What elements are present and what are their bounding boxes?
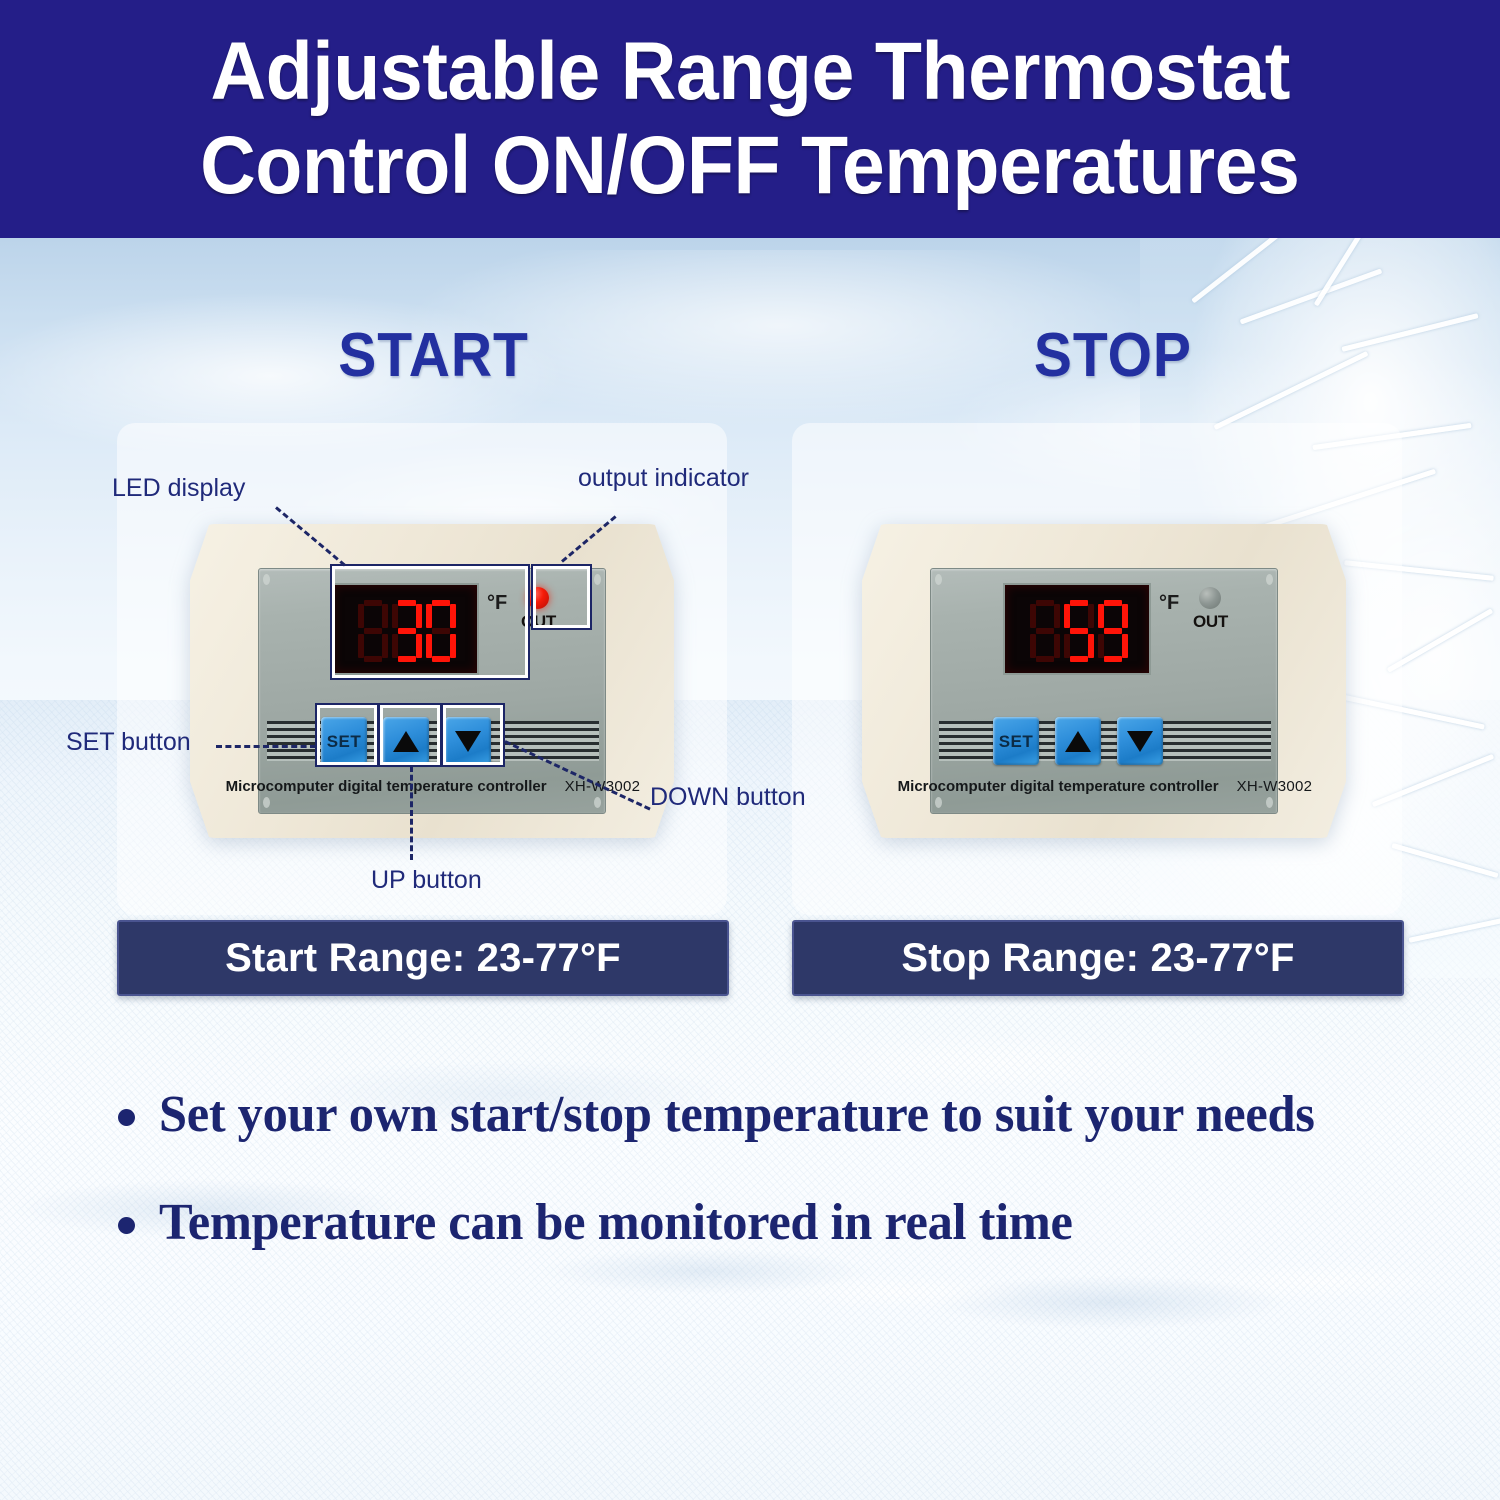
output-indicator-label-stop: OUT [1193, 613, 1228, 630]
header-title-line-2: Control ON/OFF Temperatures [200, 119, 1299, 213]
infographic-page: Adjustable Range Thermostat Control ON/O… [0, 0, 1500, 1500]
callout-set-button: SET button [66, 728, 191, 756]
range-banner-start: Start Range: 23-77°F [117, 920, 729, 996]
column-title-start: START [338, 325, 528, 387]
thermostat-device-start: °F OUT SET Microcomputer digital tempera… [190, 524, 674, 838]
range-banner-stop: Stop Range: 23-77°F [792, 920, 1404, 996]
unit-label-start: °F [487, 593, 507, 613]
model-strip-start: Microcomputer digital temperature contro… [259, 773, 607, 799]
vent-strip-start [267, 721, 599, 761]
bullet-dot-icon [118, 1217, 135, 1234]
set-button-label-stop: SET [999, 733, 1034, 750]
down-arrow-icon-stop [1127, 731, 1153, 752]
set-button-label-start: SET [327, 733, 362, 750]
thermostat-device-stop: °F OUT SET Microcomputer digital tempera… [862, 524, 1346, 838]
header-title-line-1: Adjustable Range Thermostat [210, 25, 1289, 119]
down-button-start[interactable] [445, 717, 491, 765]
vent-strip-stop [939, 721, 1271, 761]
output-indicator-led-start [527, 587, 549, 609]
led-display-window-stop [1003, 583, 1151, 675]
callout-output-indicator: output indicator [578, 464, 749, 492]
model-strip-stop: Microcomputer digital temperature contro… [931, 773, 1279, 799]
up-arrow-icon-stop [1065, 731, 1091, 752]
led-digits-stop [1011, 593, 1147, 669]
header-banner: Adjustable Range Thermostat Control ON/O… [0, 0, 1500, 238]
leader-up-button [410, 766, 413, 860]
bullet-text-2: Temperature can be monitored in real tim… [159, 1193, 1073, 1253]
set-button-start[interactable]: SET [321, 717, 367, 765]
output-indicator-led-stop [1199, 587, 1221, 609]
up-arrow-icon-start [393, 731, 419, 752]
callout-down-button: DOWN button [650, 783, 806, 811]
feature-bullet-list: Set your own start/stop temperature to s… [118, 1085, 1438, 1301]
bullet-dot-icon [118, 1109, 135, 1126]
output-indicator-label-start: OUT [521, 613, 556, 630]
unit-label-stop: °F [1159, 593, 1179, 613]
column-title-stop: STOP [1034, 325, 1192, 387]
up-button-stop[interactable] [1055, 717, 1101, 765]
set-button-stop[interactable]: SET [993, 717, 1039, 765]
bullet-item: Set your own start/stop temperature to s… [118, 1085, 1438, 1145]
led-display-window-start [331, 583, 479, 675]
leader-set-button [216, 745, 316, 748]
down-button-stop[interactable] [1117, 717, 1163, 765]
callout-led-display: LED display [112, 474, 245, 502]
bullet-item: Temperature can be monitored in real tim… [118, 1193, 1438, 1253]
callout-up-button: UP button [371, 866, 482, 894]
model-description-start: Microcomputer digital temperature contro… [226, 779, 547, 794]
down-arrow-icon-start [455, 731, 481, 752]
device-faceplate-start: °F OUT SET Microcomputer digital tempera… [258, 568, 606, 814]
model-description-stop: Microcomputer digital temperature contro… [898, 779, 1219, 794]
model-number-stop: XH-W3002 [1237, 779, 1313, 794]
device-faceplate-stop: °F OUT SET Microcomputer digital tempera… [930, 568, 1278, 814]
led-digits-start [339, 593, 475, 669]
bullet-text-1: Set your own start/stop temperature to s… [159, 1085, 1315, 1145]
up-button-start[interactable] [383, 717, 429, 765]
